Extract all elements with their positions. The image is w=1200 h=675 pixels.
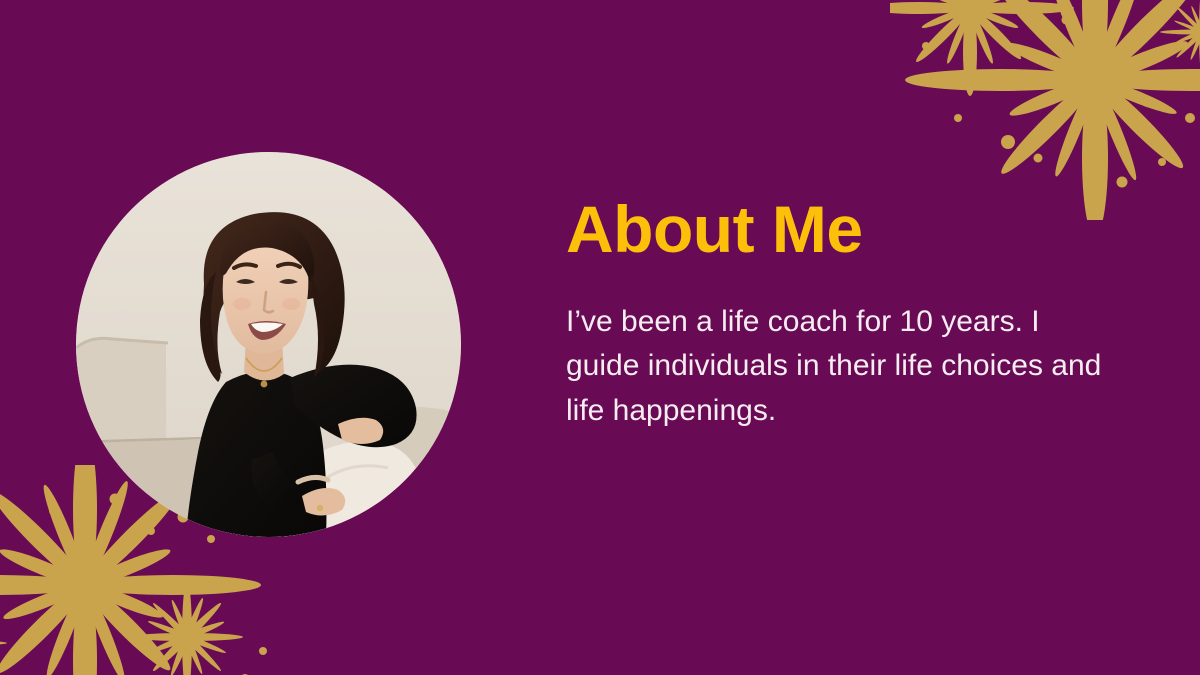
starburst-cluster-top-right-icon xyxy=(890,0,1200,220)
about-text-block: About Me I’ve been a life coach for 10 y… xyxy=(566,196,1126,433)
portrait-illustration xyxy=(76,152,461,537)
about-me-slide: About Me I’ve been a life coach for 10 y… xyxy=(0,0,1200,675)
page-title: About Me xyxy=(566,196,1126,262)
profile-photo xyxy=(76,152,461,537)
about-description: I’ve been a life coach for 10 years. I g… xyxy=(566,262,1116,433)
